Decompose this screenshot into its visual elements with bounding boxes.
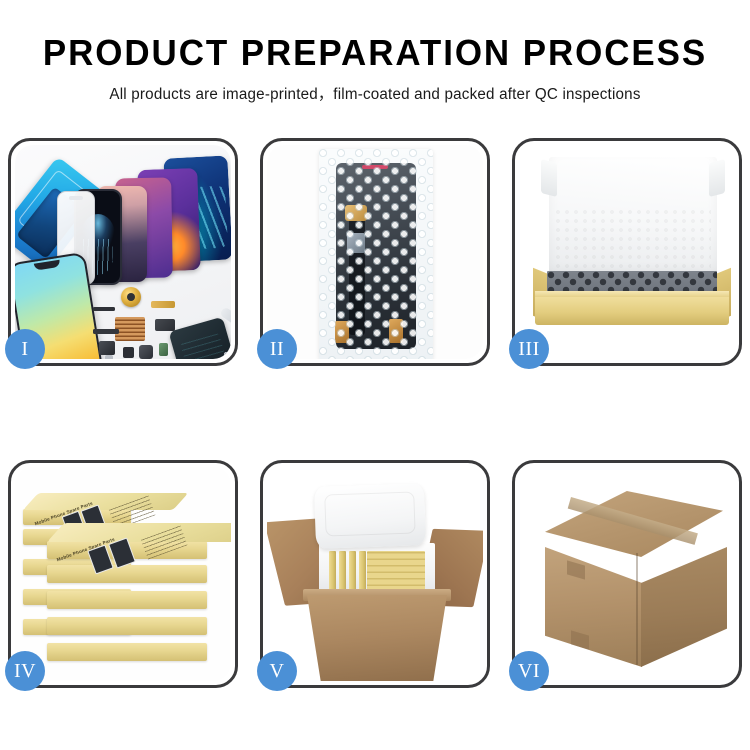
- flex-strip-icon: [93, 307, 115, 311]
- sensor-icon: [159, 343, 168, 356]
- carton-corner-seam: [636, 553, 638, 665]
- step-badge-2: II: [257, 329, 297, 369]
- foam-box-lid-icon: [314, 483, 426, 549]
- step-badge-1: I: [5, 329, 45, 369]
- yellow-box-stack-flat: [367, 551, 425, 591]
- process-step-grid: I II III: [8, 138, 742, 688]
- process-step-panel-5: V: [260, 460, 490, 688]
- vibration-motor-icon: [99, 341, 115, 355]
- retail-box-front: [47, 617, 207, 635]
- antenna-strip-icon: [93, 329, 119, 334]
- open-carton-icon: [307, 595, 447, 681]
- bubble-wrap-bag-icon: [319, 149, 433, 359]
- bubble-texture: [319, 149, 433, 359]
- step-badge-3: III: [509, 329, 549, 369]
- step-badge-5: V: [257, 651, 297, 691]
- yellow-box-edge: [349, 551, 356, 591]
- process-step-panel-1: I: [8, 138, 238, 366]
- retail-box-front: [47, 591, 207, 609]
- page-header: PRODUCT PREPARATION PROCESS All products…: [0, 0, 750, 104]
- spare-parts-cluster: [93, 285, 231, 359]
- process-step-panel-6: VI: [512, 460, 742, 688]
- yellow-box-edge: [339, 551, 346, 591]
- step-badge-4: IV: [5, 651, 45, 691]
- yellow-box-edge: [359, 551, 366, 591]
- step-2-image: [267, 145, 483, 359]
- speaker-coil-icon: [121, 287, 141, 307]
- speaker-icon: [139, 345, 153, 359]
- yellow-inner-box-icon: [535, 297, 729, 325]
- sim-tray-icon: [105, 355, 113, 359]
- step-6-image: [519, 467, 735, 681]
- step-badge-6: VI: [509, 651, 549, 691]
- yellow-box-edge: [329, 551, 336, 591]
- camera-module-icon: [155, 319, 175, 331]
- process-step-panel-4: Mobile Phone Spare Parts Mobile Phone Sp…: [8, 460, 238, 688]
- copper-mesh-icon: [115, 317, 145, 341]
- step-1-image: [15, 145, 231, 359]
- yellow-boxes-in-foam: [329, 551, 425, 591]
- gold-connector-icon: [151, 301, 175, 308]
- chip-icon: [123, 347, 134, 358]
- stacked-retail-boxes: Mobile Phone Spare Parts Mobile Phone Sp…: [15, 467, 231, 681]
- step-4-image: Mobile Phone Spare Parts Mobile Phone Sp…: [15, 467, 231, 681]
- retail-box-front: [47, 643, 207, 661]
- retail-box-front: [47, 565, 207, 583]
- page-title: PRODUCT PREPARATION PROCESS: [11, 0, 739, 73]
- process-step-panel-2: II: [260, 138, 490, 366]
- page-subtitle: All products are image-printed，film-coat…: [8, 73, 743, 104]
- white-foam-sheet-icon: [549, 157, 717, 277]
- step-3-image: [519, 145, 735, 359]
- screws-icon: [223, 351, 231, 359]
- process-step-panel-3: III: [512, 138, 742, 366]
- step-5-image: [267, 467, 483, 681]
- phone-back-housing-icon: [168, 317, 231, 359]
